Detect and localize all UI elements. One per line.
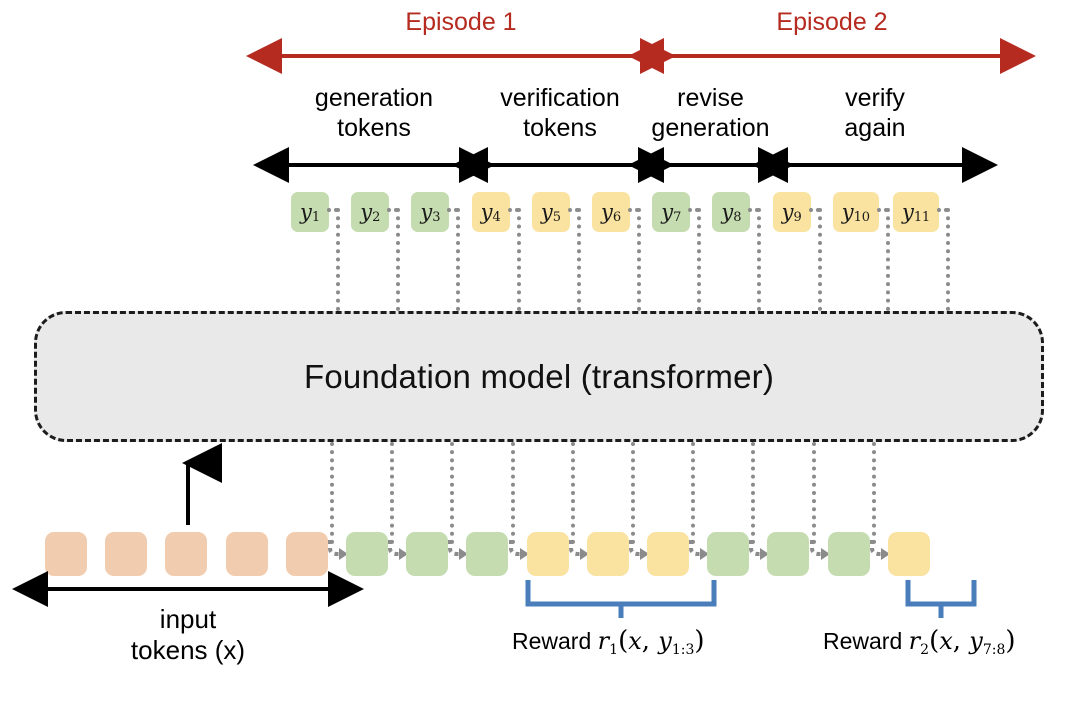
reward-2-arg1: x	[939, 627, 953, 655]
output-connector-line	[511, 442, 515, 544]
token-base: y	[782, 200, 794, 224]
token-chip-y8: y8	[712, 192, 750, 232]
reward-2-close-paren: )	[1005, 626, 1015, 656]
sequence-box-8	[466, 532, 508, 576]
input-tokens-line2: tokens (x)	[40, 635, 336, 666]
token-subscript: 1	[312, 210, 320, 225]
token-base: y	[300, 200, 312, 224]
episode-2-arrow	[656, 50, 1008, 62]
token-chip-y7: y7	[652, 192, 690, 232]
foundation-model-label: Foundation model (transformer)	[304, 358, 774, 396]
token-connector-line	[886, 208, 890, 311]
sequence-box-11	[647, 532, 689, 576]
token-chip-y10: y10	[833, 192, 879, 232]
reward-2-symbol: r	[909, 627, 920, 655]
sequence-box-4	[226, 532, 268, 576]
reward-2-label: Reward r2(x, y7:8)	[823, 626, 1016, 656]
input-tokens-arrow	[40, 583, 336, 595]
phase-arrow-verify-again	[780, 159, 970, 171]
reward-2-arg2: y	[969, 627, 983, 655]
token-subscript: 8	[733, 210, 741, 225]
token-chip-y1: y1	[291, 192, 329, 232]
episode-1-arrow	[274, 50, 648, 62]
token-connector-line	[637, 208, 641, 311]
token-connector-line	[517, 208, 521, 311]
reward-2-range: 7:8	[983, 642, 1006, 658]
reward-2-comma: ,	[953, 626, 970, 656]
episode-2-label: Episode 2	[656, 10, 1008, 35]
output-connector-line	[571, 442, 575, 544]
phase-arrow-revise-generation	[656, 159, 766, 171]
sequence-box-9	[527, 532, 569, 576]
token-subscript: 9	[793, 210, 801, 225]
token-chip-y3: y3	[411, 192, 449, 232]
reward-1-bracket	[525, 578, 717, 618]
reward-2-prefix: Reward	[823, 628, 909, 654]
reward-1-arg1: x	[628, 627, 642, 655]
token-base: y	[420, 200, 432, 224]
reward-2-open-paren: (	[929, 626, 939, 656]
phase-2-line1: revise	[648, 84, 773, 114]
reward-1-symbol: r	[598, 627, 609, 655]
phase-arrow-verification-tokens	[480, 159, 646, 171]
token-base: y	[661, 200, 673, 224]
sequence-box-15	[888, 532, 930, 576]
token-base: y	[842, 200, 854, 224]
sequence-box-2	[105, 532, 147, 576]
phase-label-verification-tokens: verification tokens	[474, 84, 646, 143]
output-connector-line	[691, 442, 695, 544]
reward-2-index: 2	[920, 642, 929, 658]
token-base: y	[360, 200, 372, 224]
token-connector-line	[456, 208, 460, 311]
token-subscript: 6	[613, 210, 621, 225]
token-base: y	[721, 200, 733, 224]
output-connector-line	[330, 442, 334, 544]
output-connector-line	[812, 442, 816, 544]
reward-1-range: 1:3	[672, 642, 695, 658]
token-chip-y9: y9	[773, 192, 811, 232]
token-subscript: 11	[914, 210, 930, 225]
phase-3-line1: verify	[782, 84, 968, 114]
output-connector-line	[751, 442, 755, 544]
reward-1-open-paren: (	[618, 626, 628, 656]
sequence-box-14	[828, 532, 870, 576]
token-connector-line	[577, 208, 581, 311]
sequence-box-10	[587, 532, 629, 576]
token-subscript: 4	[492, 210, 500, 225]
output-connector-line	[872, 442, 876, 544]
phase-1-line1: verification	[474, 84, 646, 114]
phase-label-revise-generation: revise generation	[648, 84, 773, 143]
sequence-box-5	[286, 532, 328, 576]
sequence-box-12	[707, 532, 749, 576]
output-connector-line	[390, 442, 394, 544]
token-base: y	[481, 200, 493, 224]
token-subscript: 7	[673, 210, 681, 225]
foundation-model-box: Foundation model (transformer)	[34, 311, 1044, 442]
output-connector-line	[631, 442, 635, 544]
phase-0-line2: tokens	[281, 114, 467, 144]
reward-1-index: 1	[609, 642, 618, 658]
sequence-box-13	[767, 532, 809, 576]
reward-2-bracket	[905, 578, 977, 618]
token-chip-y11: y11	[893, 192, 939, 232]
token-base: y	[601, 200, 613, 224]
token-chip-y5: y5	[532, 192, 570, 232]
sequence-box-7	[406, 532, 448, 576]
figure-canvas: Episode 1 Episode 2 generation tokens ve…	[0, 0, 1080, 707]
output-connector-line	[450, 442, 454, 544]
token-connector-line	[396, 208, 400, 311]
sequence-box-1	[45, 532, 87, 576]
token-connector-line	[818, 208, 822, 311]
token-subscript: 3	[432, 210, 440, 225]
reward-1-prefix: Reward	[512, 628, 598, 654]
reward-1-comma: ,	[642, 626, 659, 656]
phase-0-line1: generation	[281, 84, 467, 114]
token-connector-line	[697, 208, 701, 311]
token-base: y	[902, 200, 914, 224]
phase-3-line2: again	[782, 114, 968, 144]
sequence-box-6	[346, 532, 388, 576]
input-up-arrow-icon	[178, 455, 198, 527]
token-connector-line	[946, 208, 950, 311]
phase-1-line2: tokens	[474, 114, 646, 144]
episode-1-label: Episode 1	[274, 10, 648, 35]
token-chip-y6: y6	[592, 192, 630, 232]
token-chip-y4: y4	[472, 192, 510, 232]
input-tokens-line1: input	[40, 604, 336, 635]
token-chip-y2: y2	[351, 192, 389, 232]
reward-1-label: Reward r1(x, y1:3)	[512, 626, 705, 656]
token-connector-line	[336, 208, 340, 311]
token-subscript: 5	[553, 210, 561, 225]
input-tokens-label: input tokens (x)	[40, 604, 336, 666]
phase-arrow-generation-tokens	[281, 159, 467, 171]
token-base: y	[541, 200, 553, 224]
token-connector-line	[757, 208, 761, 311]
token-subscript: 2	[372, 210, 380, 225]
phase-label-verify-again: verify again	[782, 84, 968, 143]
phase-2-line2: generation	[648, 114, 773, 144]
sequence-box-3	[165, 532, 207, 576]
phase-label-generation-tokens: generation tokens	[281, 84, 467, 143]
reward-1-close-paren: )	[694, 626, 704, 656]
reward-1-arg2: y	[658, 627, 672, 655]
token-subscript: 10	[854, 210, 870, 225]
